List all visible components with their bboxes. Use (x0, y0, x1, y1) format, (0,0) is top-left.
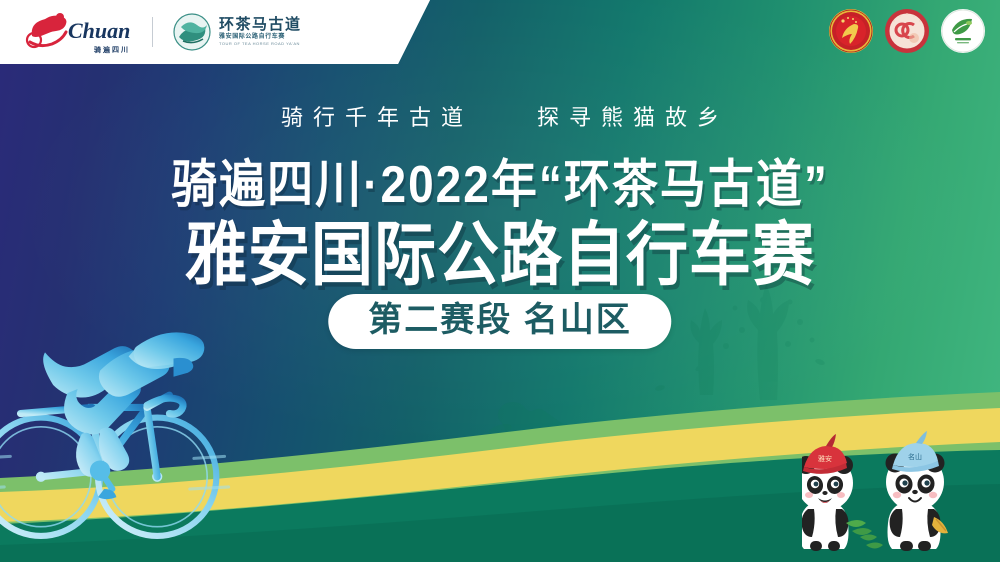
panda-mascots: 雅安 (802, 427, 992, 562)
svg-text:雅安: 雅安 (818, 454, 832, 463)
badge-red-gold-emblem[interactable] (828, 8, 874, 54)
cyclist-mark-icon (27, 13, 66, 47)
stage-badge: 第二赛段 名山区 (328, 294, 671, 349)
logo-sichuan[interactable]: Chuan 骑遍四川 (24, 10, 132, 54)
poster-tagline: 骑行千年古道 探寻熊猫故乡 (0, 100, 1000, 132)
logo-tea-horse-road[interactable]: 环茶马古道 雅安国际公路自行车赛 TOUR OF TEA HORSE ROAD … (173, 10, 302, 54)
sichuan-wordmark: Chuan (68, 18, 130, 43)
panda-mascot-red-cap: 雅安 (802, 434, 872, 551)
stage-badge-label: 第二赛段 名山区 (368, 302, 631, 339)
tea-road-english: TOUR OF TEA HORSE ROAD YA'AN (219, 42, 302, 47)
svg-text:名山: 名山 (908, 452, 922, 461)
tea-road-circle-icon (173, 13, 211, 51)
panda-mascot-blue-cap: 名山 (886, 431, 949, 551)
tea-road-text: 环茶马古道 雅安国际公路自行车赛 TOUR OF TEA HORSE ROAD … (219, 17, 302, 47)
poster-title-line-2: 雅安国际公路自行车赛 (0, 198, 1000, 299)
race-poster: Chuan 骑遍四川 环茶马古道 雅安国际公路自行车赛 TOUR OF TEA … (0, 0, 1000, 562)
ground-leaves (860, 535, 883, 549)
badge-anniversary-emblem[interactable] (884, 8, 930, 54)
sichuan-logo-chinese: 骑遍四川 (94, 45, 130, 55)
sponsor-badges (828, 8, 986, 54)
tea-road-subtitle: 雅安国际公路自行车赛 (219, 34, 302, 41)
logo-divider (152, 17, 153, 47)
tea-road-title: 环茶马古道 (219, 17, 302, 33)
header-logos: Chuan 骑遍四川 环茶马古道 雅安国际公路自行车赛 TOUR OF TEA … (0, 0, 302, 64)
badge-green-tea-emblem[interactable] (940, 8, 986, 54)
